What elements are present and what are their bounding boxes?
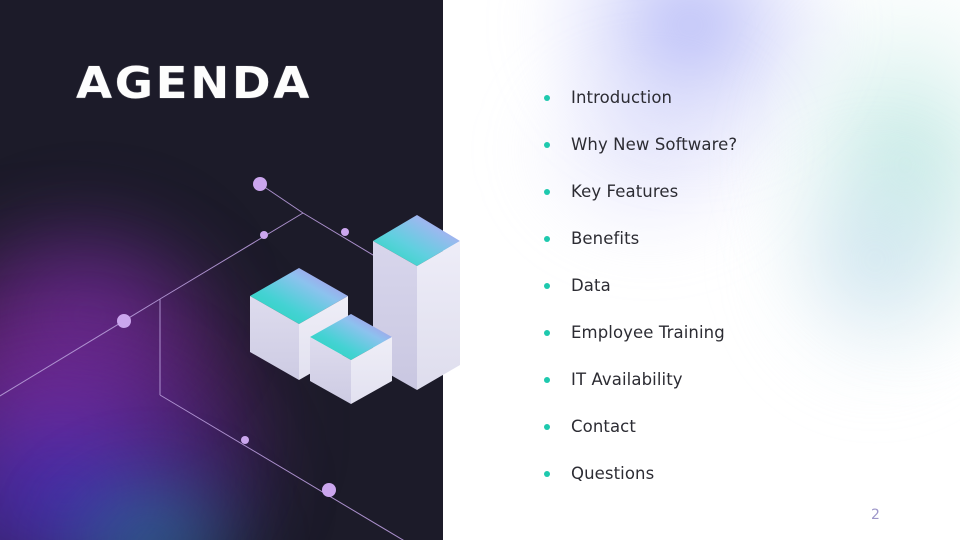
agenda-item-label: Employee Training xyxy=(571,323,725,342)
bullet-dot-icon xyxy=(544,236,550,242)
bullet-dot-icon xyxy=(544,471,550,477)
agenda-item-data[interactable]: Data xyxy=(541,262,921,309)
bullet-dot-icon xyxy=(544,95,550,101)
agenda-item-label: Data xyxy=(571,276,611,295)
agenda-item-employee-training[interactable]: Employee Training xyxy=(541,309,921,356)
agenda-item-label: Questions xyxy=(571,464,654,483)
slide-canvas: AGENDA xyxy=(0,0,960,540)
agenda-item-introduction[interactable]: Introduction xyxy=(541,74,921,121)
page-title: AGENDA xyxy=(76,62,312,106)
agenda-item-benefits[interactable]: Benefits xyxy=(541,215,921,262)
agenda-item-label: Key Features xyxy=(571,182,678,201)
agenda-item-key-features[interactable]: Key Features xyxy=(541,168,921,215)
bullet-dot-icon xyxy=(544,189,550,195)
agenda-item-label: Contact xyxy=(571,417,636,436)
agenda-item-it-availability[interactable]: IT Availability xyxy=(541,356,921,403)
bullet-dot-icon xyxy=(544,424,550,430)
agenda-list: Introduction Why New Software? Key Featu… xyxy=(541,74,921,497)
agenda-item-label: Introduction xyxy=(571,88,672,107)
agenda-item-label: IT Availability xyxy=(571,370,683,389)
agenda-item-contact[interactable]: Contact xyxy=(541,403,921,450)
agenda-item-why-new-software[interactable]: Why New Software? xyxy=(541,121,921,168)
agenda-item-questions[interactable]: Questions xyxy=(541,450,921,497)
bullet-dot-icon xyxy=(544,283,550,289)
bullet-dot-icon xyxy=(544,330,550,336)
agenda-item-label: Benefits xyxy=(571,229,639,248)
bullet-dot-icon xyxy=(544,377,550,383)
agenda-item-label: Why New Software? xyxy=(571,135,737,154)
bullet-dot-icon xyxy=(544,142,550,148)
dark-side-panel: AGENDA xyxy=(0,0,443,540)
page-number: 2 xyxy=(871,507,880,523)
